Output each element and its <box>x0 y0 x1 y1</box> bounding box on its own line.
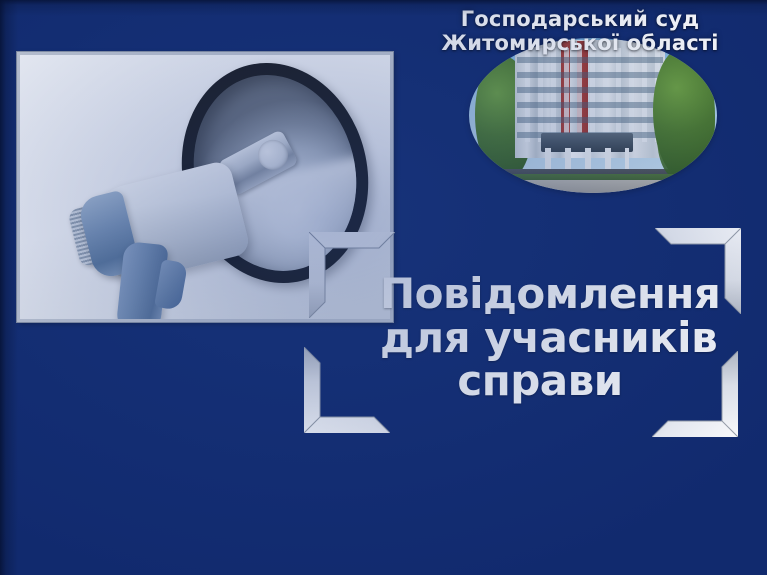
court-building-photo <box>469 38 717 193</box>
court-name-line-1: Господарський суд <box>400 8 760 32</box>
slide-title: Повідомлення для учасників справи <box>380 272 700 403</box>
announcement-slide: Господарський суд Житомирської області <box>0 0 767 575</box>
court-name-heading: Господарський суд Житомирської області <box>400 8 760 56</box>
slide-title-line-1: Повідомлення <box>380 272 700 316</box>
corner-bracket-bottom-left-icon <box>304 347 390 433</box>
slide-title-line-3: справи <box>380 359 700 403</box>
tree-right <box>653 48 715 180</box>
building-windows <box>517 48 663 142</box>
court-name-line-2: Житомирської області <box>400 32 760 56</box>
slide-title-line-2: для учасників <box>380 316 700 360</box>
pavement <box>469 180 717 193</box>
